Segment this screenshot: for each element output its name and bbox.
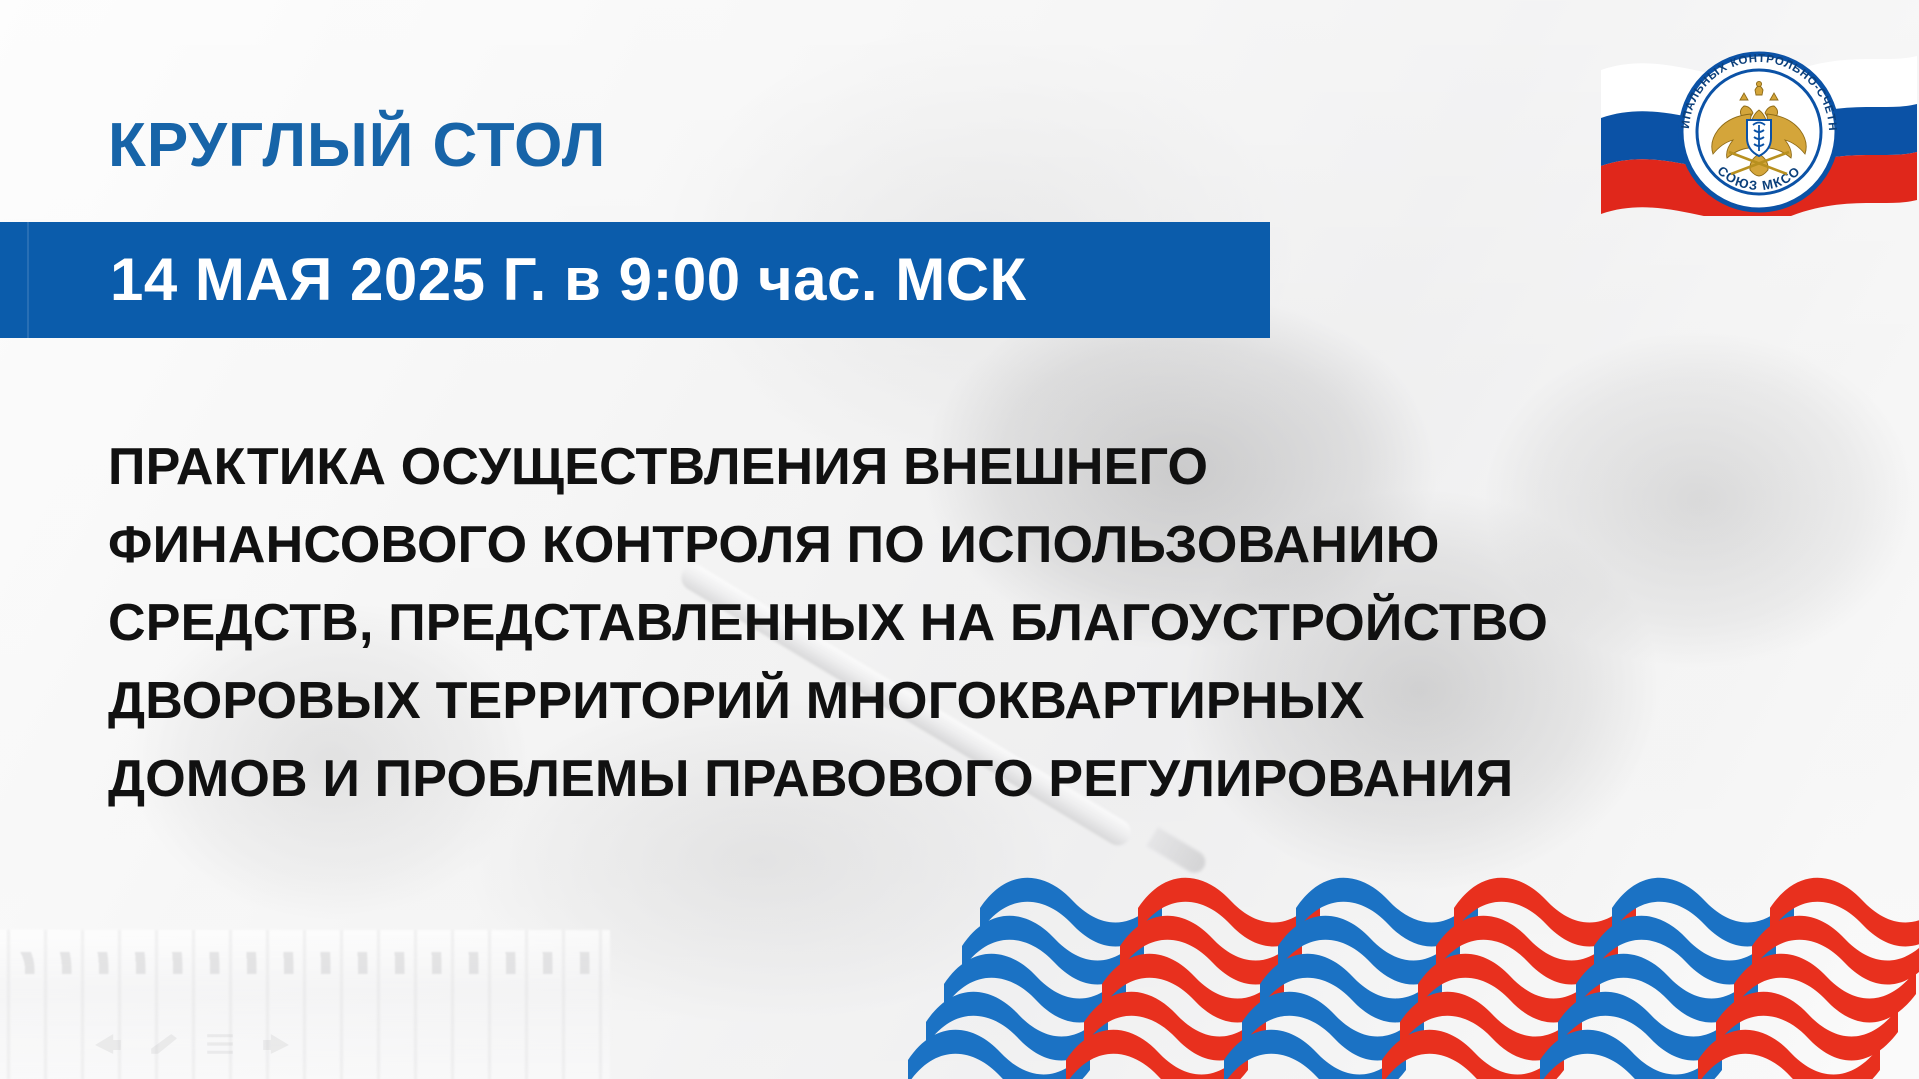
organization-emblem: СОЮЗ МУНИЦИПАЛЬНЫХ КОНТРОЛЬНО-СЧЕТНЫХ ОР… (1601, 48, 1917, 216)
title-line: ДВОРОВЫХ ТЕРРИТОРИЙ МНОГОКВАРТИРНЫХ (108, 662, 1768, 740)
date-banner: 14 МАЯ 2025 Г. в 9:00 час. МСК (0, 222, 1270, 338)
wave-ornament (890, 858, 1919, 1079)
title-line: ДОМОВ И ПРОБЛЕМЫ ПРАВОВОГО РЕГУЛИРОВАНИЯ (108, 740, 1768, 818)
date-banner-text: 14 МАЯ 2025 Г. в 9:00 час. МСК (110, 250, 1027, 310)
page-kicker: КРУГЛЫЙ СТОЛ (108, 115, 606, 177)
page-title: ПРАКТИКА ОСУЩЕСТВЛЕНИЯ ВНЕШНЕГО ФИНАНСОВ… (108, 428, 1768, 818)
title-line: СРЕДСТВ, ПРЕДСТАВЛЕННЫХ НА БЛАГОУСТРОЙСТ… (108, 584, 1768, 662)
title-line: ФИНАНСОВОГО КОНТРОЛЯ ПО ИСПОЛЬЗОВАНИЮ (108, 506, 1768, 584)
title-line: ПРАКТИКА ОСУЩЕСТВЛЕНИЯ ВНЕШНЕГО (108, 428, 1768, 506)
poster-root: КРУГЛЫЙ СТОЛ 14 МАЯ 2025 Г. в 9:00 час. … (0, 0, 1919, 1079)
